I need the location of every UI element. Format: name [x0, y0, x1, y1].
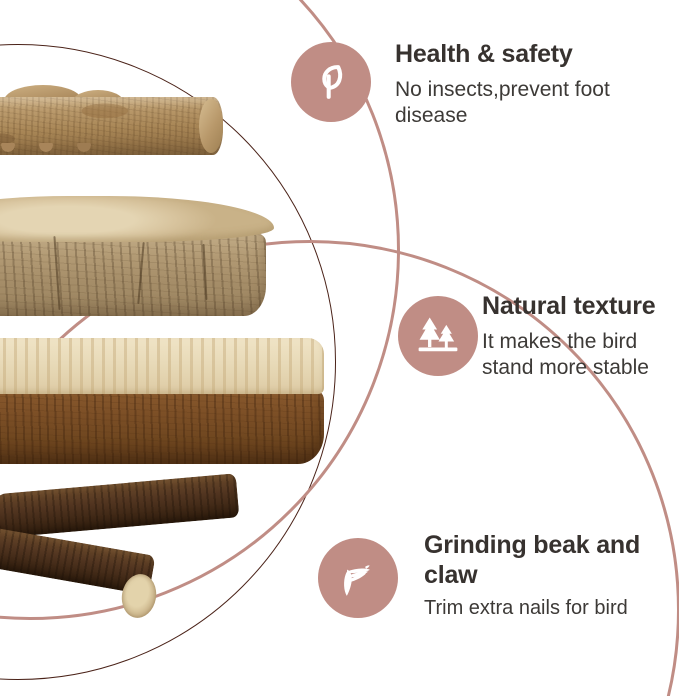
feature-text-grinding-beak-claw: Grinding beak and claw Trim extra nails … — [424, 531, 679, 622]
infographic-canvas: Health & safety No insects,prevent foot … — [0, 0, 679, 696]
product-photo-branch-perch — [0, 79, 223, 171]
pine-trees-icon — [414, 313, 462, 359]
feature-heading: Natural texture — [482, 292, 679, 322]
product-photo-bark-plank — [0, 338, 324, 468]
feature-heading: Health & safety — [395, 40, 679, 70]
branch-cut-end — [199, 99, 223, 153]
feature-icon-badge-grinding-beak-claw — [318, 538, 398, 618]
slab-bark-side — [0, 232, 266, 316]
leaf-icon — [308, 59, 354, 105]
feature-body: It makes the bird stand more stable — [482, 329, 679, 383]
slab-cut-top — [0, 196, 274, 242]
feature-text-natural-texture: Natural texture It makes the bird stand … — [482, 292, 679, 382]
branch-bark-scallop — [0, 143, 143, 161]
plank-cut-face — [0, 338, 324, 394]
bird-claw-icon — [335, 555, 381, 601]
feature-text-health-safety: Health & safety No insects,prevent foot … — [395, 40, 679, 130]
feature-icon-badge-health-safety — [291, 42, 371, 122]
plank-bark-edge — [0, 388, 324, 464]
product-photo-branch-sticks — [0, 478, 284, 628]
feature-icon-badge-natural-texture — [398, 296, 478, 376]
product-photo-wood-slab — [0, 196, 274, 318]
feature-body: No insects,prevent foot disease — [395, 77, 679, 131]
feature-heading: Grinding beak and claw — [424, 531, 679, 590]
stick-upper — [0, 473, 239, 538]
feature-body: Trim extra nails for bird — [424, 596, 679, 622]
